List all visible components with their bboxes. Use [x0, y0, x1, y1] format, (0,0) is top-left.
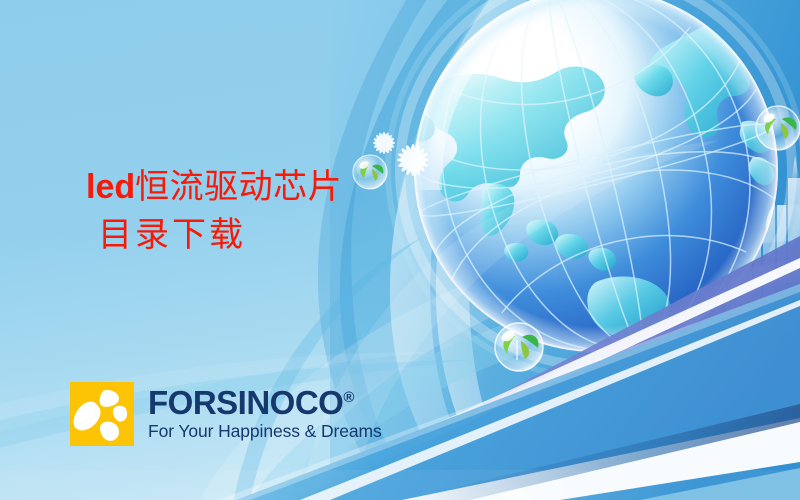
- logo-wordmark-text: FORSINOCO: [148, 384, 343, 421]
- flower-burst-group: [373, 132, 429, 176]
- promo-banner: led恒流驱动芯片 目录下载 FORSINOCO® For Your Happi…: [0, 0, 800, 500]
- forsinoco-pinwheel-mark: [70, 382, 134, 446]
- globe-continents: [400, 0, 800, 361]
- diagonal-ribbons: [218, 236, 800, 500]
- city-skyline-silhouette: [620, 156, 800, 336]
- page-title: led恒流驱动芯片 目录下载: [86, 163, 342, 261]
- headline-line-1-rest: 恒流驱动芯片: [135, 169, 342, 206]
- globe-grid: [404, 0, 787, 383]
- brand-logo[interactable]: FORSINOCO® For Your Happiness & Dreams: [70, 382, 382, 446]
- registered-trademark-icon: ®: [343, 389, 354, 406]
- headline-lead: led: [86, 168, 135, 206]
- logo-text-block: FORSINOCO® For Your Happiness & Dreams: [148, 387, 382, 442]
- flower-burst-large: [397, 144, 429, 176]
- right-blue-field: [330, 0, 800, 500]
- bubble-leaf-mid: [353, 155, 387, 189]
- headline-line-2: 目录下载: [98, 212, 342, 260]
- bubble-leaf-right: [756, 106, 800, 150]
- logo-wordmark: FORSINOCO®: [148, 387, 382, 419]
- bubble-leaf-lower: [495, 323, 543, 371]
- headline-line-1: led恒流驱动芯片: [86, 163, 342, 212]
- logo-tagline: For Your Happiness & Dreams: [148, 422, 382, 441]
- flower-burst-small: [373, 132, 395, 154]
- bubble-group: [353, 106, 800, 371]
- world-globe: [388, 0, 800, 383]
